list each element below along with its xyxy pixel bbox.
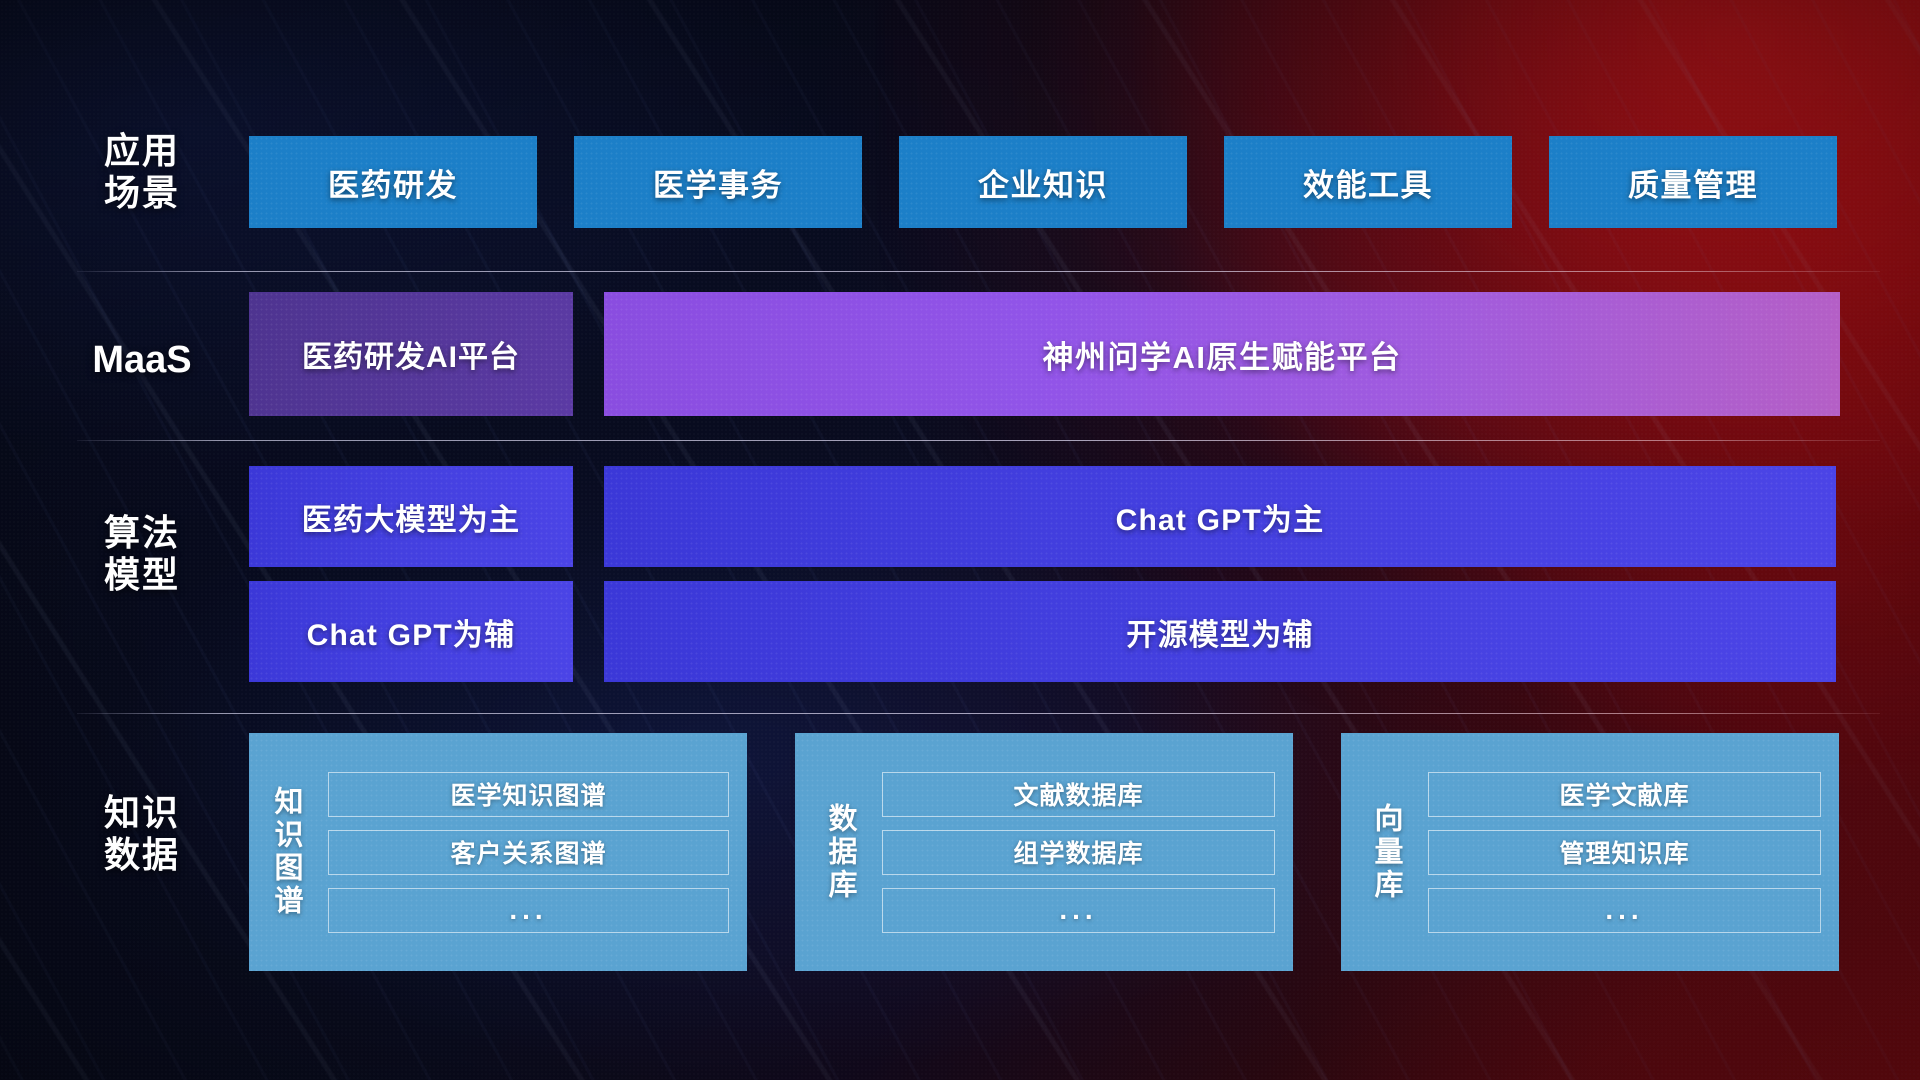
app-box-label: 质量管理 bbox=[1628, 160, 1758, 205]
knowledge-group-label: 向量库 bbox=[1371, 803, 1400, 902]
maas-box-medical-rd-platform[interactable]: 医药研发AI平台 bbox=[249, 292, 573, 416]
app-box-efficiency-tools[interactable]: 效能工具 bbox=[1224, 136, 1512, 228]
row-label-maas: MaaS bbox=[77, 338, 207, 383]
knowledge-group-label: 知识图谱 bbox=[271, 786, 300, 918]
knowledge-group-vector-database[interactable]: 向量库 医学文献库 管理知识库 ... bbox=[1341, 733, 1839, 971]
knowledge-item[interactable]: 管理知识库 bbox=[1428, 830, 1821, 875]
knowledge-item-more[interactable]: ... bbox=[882, 888, 1275, 933]
knowledge-group-label: 数据库 bbox=[825, 803, 854, 902]
algo-box-medical-llm-primary[interactable]: 医药大模型为主 bbox=[249, 466, 573, 567]
app-box-medical-affairs[interactable]: 医学事务 bbox=[574, 136, 862, 228]
algo-box-chatgpt-secondary[interactable]: Chat GPT为辅 bbox=[249, 581, 573, 682]
algo-box-label: 开源模型为辅 bbox=[1126, 610, 1313, 654]
app-box-quality-management[interactable]: 质量管理 bbox=[1549, 136, 1837, 228]
app-box-medical-rd[interactable]: 医药研发 bbox=[249, 136, 537, 228]
maas-box-shenzhou-platform[interactable]: 神州问学AI原生赋能平台 bbox=[604, 292, 1840, 416]
knowledge-group-knowledge-graph[interactable]: 知识图谱 医学知识图谱 客户关系图谱 ... bbox=[249, 733, 747, 971]
app-box-label: 效能工具 bbox=[1303, 160, 1433, 205]
knowledge-item[interactable]: 客户关系图谱 bbox=[328, 830, 729, 875]
algo-box-label: 医药大模型为主 bbox=[302, 495, 520, 539]
row-label-knowledge-data: 知识 数据 bbox=[77, 792, 207, 877]
app-box-enterprise-knowledge[interactable]: 企业知识 bbox=[899, 136, 1187, 228]
algo-box-chatgpt-primary[interactable]: Chat GPT为主 bbox=[604, 466, 1836, 567]
knowledge-item[interactable]: 组学数据库 bbox=[882, 830, 1275, 875]
knowledge-item[interactable]: 医学知识图谱 bbox=[328, 772, 729, 817]
knowledge-item[interactable]: 医学文献库 bbox=[1428, 772, 1821, 817]
app-box-label: 医药研发 bbox=[328, 160, 458, 205]
knowledge-item[interactable]: 文献数据库 bbox=[882, 772, 1275, 817]
divider-after-algorithm-row bbox=[77, 713, 1880, 714]
algo-box-label: Chat GPT为辅 bbox=[307, 610, 516, 654]
maas-box-label: 医药研发AI平台 bbox=[302, 332, 520, 376]
app-box-label: 企业知识 bbox=[978, 160, 1108, 205]
knowledge-group-items: 医学知识图谱 客户关系图谱 ... bbox=[328, 772, 729, 933]
knowledge-item-more[interactable]: ... bbox=[1428, 888, 1821, 933]
algo-box-label: Chat GPT为主 bbox=[1116, 495, 1325, 539]
divider-after-application-row bbox=[77, 271, 1880, 272]
app-box-label: 医学事务 bbox=[653, 160, 783, 205]
knowledge-group-items: 医学文献库 管理知识库 ... bbox=[1428, 772, 1821, 933]
divider-after-maas-row bbox=[77, 440, 1880, 441]
row-label-application-scenarios: 应用 场景 bbox=[77, 130, 207, 215]
row-label-algorithm-model: 算法 模型 bbox=[77, 512, 207, 597]
knowledge-group-database[interactable]: 数据库 文献数据库 组学数据库 ... bbox=[795, 733, 1293, 971]
knowledge-group-items: 文献数据库 组学数据库 ... bbox=[882, 772, 1275, 933]
algo-box-opensource-secondary[interactable]: 开源模型为辅 bbox=[604, 581, 1836, 682]
knowledge-item-more[interactable]: ... bbox=[328, 888, 729, 933]
architecture-diagram: 应用 场景 医药研发 医学事务 企业知识 效能工具 质量管理 MaaS 医药研发… bbox=[0, 0, 1920, 1080]
maas-box-label: 神州问学AI原生赋能平台 bbox=[1043, 332, 1402, 377]
